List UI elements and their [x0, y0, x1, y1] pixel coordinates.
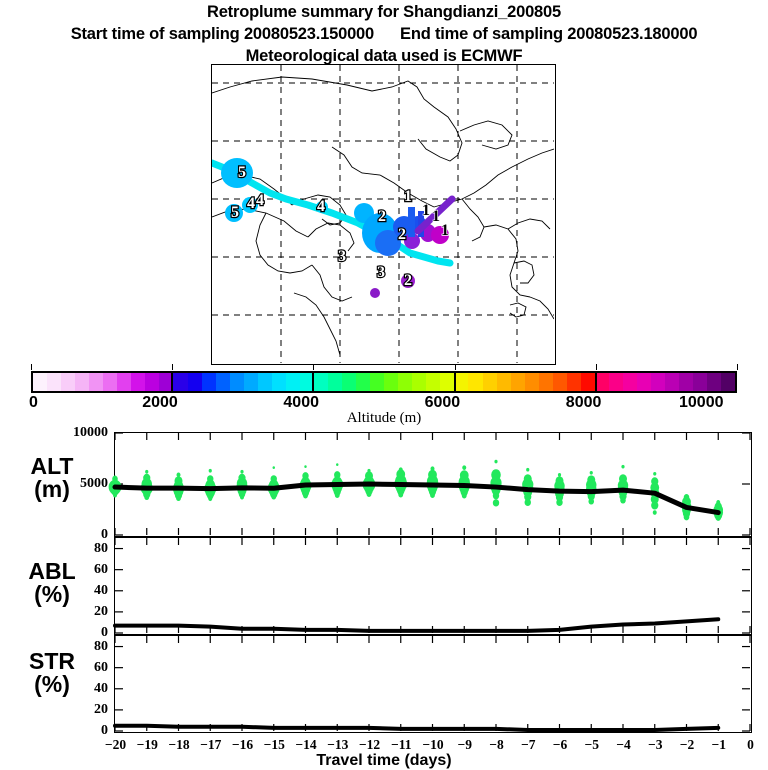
colorbar-separator: [454, 371, 456, 393]
svg-text:5: 5: [231, 204, 239, 221]
plume-blobs: [221, 158, 449, 298]
alt-scatter-point: [526, 468, 529, 472]
x-tick-label: −18: [162, 737, 196, 753]
colorbar-swatch: [693, 373, 707, 391]
x-tick-label: −19: [130, 737, 164, 753]
alt-scatter-point: [493, 492, 499, 499]
colorbar-swatch: [539, 373, 553, 391]
alt-scatter-point: [653, 510, 657, 515]
colorbar-swatch: [412, 373, 426, 391]
x-tick-label: −9: [448, 737, 482, 753]
abl-line: [115, 619, 718, 631]
colorbar-tick: [172, 364, 173, 370]
x-tick-label: −6: [543, 737, 577, 753]
colorbar-swatch: [609, 373, 623, 391]
colorbar-swatch: [356, 373, 370, 391]
str-plot: [115, 636, 750, 731]
alt-scatter-point: [684, 514, 690, 520]
colorbar-swatch: [131, 373, 145, 391]
str-panel[interactable]: [114, 635, 752, 733]
colorbar-swatch: [342, 373, 356, 391]
colorbar-swatch: [384, 373, 398, 391]
colorbar-tick: [737, 364, 738, 370]
y-tick-label: 80: [46, 639, 108, 655]
colorbar-swatch: [679, 373, 693, 391]
alt-mean-line: [115, 484, 718, 513]
colorbar-swatch: [188, 373, 202, 391]
alt-scatter-point: [653, 472, 656, 476]
x-tick-label: −13: [321, 737, 355, 753]
colorbar-swatch: [216, 373, 230, 391]
colorbar-swatch: [103, 373, 117, 391]
svg-text:3: 3: [338, 248, 346, 265]
page-title: Retroplume summary for Shangdianzi_20080…: [0, 3, 768, 22]
colorbar-caption: Altitude (m): [0, 410, 768, 427]
colorbar-swatch: [89, 373, 103, 391]
alt-scatter-point: [144, 495, 149, 501]
y-tick-label: 10000: [46, 425, 108, 441]
alt-scatter-point: [240, 470, 243, 474]
alt-scatter-point: [588, 498, 594, 504]
alt-scatter-point: [398, 492, 403, 498]
colorbar-swatch: [173, 373, 187, 391]
str-line: [115, 726, 718, 730]
colorbar-separator: [171, 371, 173, 393]
alt-plot: [115, 433, 750, 535]
colorbar-swatch: [426, 373, 440, 391]
svg-text:2: 2: [398, 226, 406, 243]
colorbar-swatch: [117, 373, 131, 391]
alt-scatter-point: [271, 494, 276, 500]
colorbar-swatch: [61, 373, 75, 391]
colorbar-swatch: [721, 373, 735, 391]
abl-plot: [115, 538, 750, 633]
y-tick-label: 80: [46, 541, 108, 557]
colorbar-swatch: [440, 373, 454, 391]
svg-text:2: 2: [404, 272, 412, 289]
svg-text:5: 5: [238, 164, 246, 181]
colorbar-swatch: [272, 373, 286, 391]
y-tick-label: 20: [46, 604, 108, 620]
alt-scatter-point: [462, 465, 466, 470]
x-tick-label: −17: [194, 737, 228, 753]
x-tick-label: −1: [702, 737, 736, 753]
alt-scatter-point: [176, 496, 181, 502]
colorbar-swatch: [47, 373, 61, 391]
svg-text:1: 1: [441, 222, 449, 239]
x-tick-label: −5: [575, 737, 609, 753]
alt-scatter-point: [273, 466, 275, 469]
colorbar-tick: [31, 364, 32, 370]
svg-text:1: 1: [404, 188, 412, 205]
alt-scatter-point: [494, 460, 497, 464]
colorbar-tick: [455, 364, 456, 370]
colorbar-tick: [313, 364, 314, 370]
x-tick-label: −12: [353, 737, 387, 753]
alt-scatter-point: [336, 463, 338, 466]
colorbar-separator: [312, 371, 314, 393]
colorbar-swatch: [230, 373, 244, 391]
x-tick-label: −20: [99, 737, 133, 753]
svg-text:1: 1: [432, 208, 440, 225]
alt-scatter-point: [525, 499, 531, 506]
colorbar-swatch: [623, 373, 637, 391]
y-tick-label: 60: [46, 660, 108, 676]
alt-scatter-point: [620, 497, 626, 503]
colorbar-swatch: [370, 373, 384, 391]
x-tick-label: −2: [670, 737, 704, 753]
colorbar-swatch: [33, 373, 47, 391]
colorbar-swatch: [665, 373, 679, 391]
x-tick-label: −8: [480, 737, 514, 753]
alt-scatter-point: [462, 493, 467, 499]
svg-text:2: 2: [378, 208, 386, 225]
x-tick-label: −16: [226, 737, 260, 753]
colorbar-swatch: [511, 373, 525, 391]
x-tick-label: −4: [607, 737, 641, 753]
alt-label-line1: ALT: [6, 455, 98, 478]
y-tick-label: 40: [46, 583, 108, 599]
alt-scatter-point: [558, 473, 561, 477]
retroplume-map[interactable]: 5 5 4 4 4 3 3 2 2 2 1 1 1 1: [211, 64, 556, 365]
map-graphic: 5 5 4 4 4 3 3 2 2 2 1 1 1 1: [212, 65, 554, 363]
x-tick-label: 0: [734, 737, 768, 753]
x-tick-label: −3: [638, 737, 672, 753]
colorbar-swatch: [145, 373, 159, 391]
end-time-label: End time of sampling 20080523.180000: [400, 25, 697, 43]
colorbar-swatch: [75, 373, 89, 391]
alt-scatter-point: [208, 496, 212, 501]
alt-scatter-point: [715, 514, 721, 520]
x-tick-label: −10: [416, 737, 450, 753]
svg-text:1: 1: [422, 202, 430, 219]
svg-text:4: 4: [256, 192, 264, 209]
alt-scatter-point: [621, 465, 624, 469]
sampling-times: Start time of sampling 20080523.150000En…: [0, 25, 768, 44]
alt-scatter-point: [113, 493, 117, 498]
y-tick-label: 20: [46, 702, 108, 718]
colorbar-swatch: [483, 373, 497, 391]
colorbar-swatch: [286, 373, 300, 391]
x-tick-label: −11: [384, 737, 418, 753]
svg-text:4: 4: [247, 195, 255, 212]
alt-scatter-point: [590, 471, 593, 475]
alt-scatter-point: [367, 491, 372, 497]
colorbar-swatch: [595, 373, 609, 391]
alt-scatter-point: [209, 469, 212, 473]
colorbar-separator: [595, 371, 597, 393]
alt-scatter-point: [556, 499, 562, 506]
colorbar-swatch: [637, 373, 651, 391]
colorbar-tick: [596, 364, 597, 370]
x-tick-label: −14: [289, 737, 323, 753]
start-time-label: Start time of sampling 20080523.150000: [71, 25, 374, 43]
alt-scatter-point: [240, 495, 244, 500]
colorbar-swatch: [314, 373, 328, 391]
colorbar-swatch: [244, 373, 258, 391]
svg-text:3: 3: [377, 264, 385, 281]
alt-scatter-point: [493, 499, 499, 506]
altitude-colorbar[interactable]: [31, 371, 737, 393]
colorbar-swatch: [567, 373, 581, 391]
alt-scatter-point: [651, 501, 658, 509]
alt-scatter-point: [335, 492, 340, 498]
alt-scatter-point: [304, 465, 306, 468]
colorbar-swatch: [581, 373, 595, 391]
alt-scatter-point: [145, 470, 148, 474]
colorbar-swatch: [497, 373, 511, 391]
colorbar-swatch: [468, 373, 482, 391]
x-tick-label: −15: [257, 737, 291, 753]
colorbar-swatch: [398, 373, 412, 391]
y-tick-label: 40: [46, 681, 108, 697]
x-tick-label: −7: [511, 737, 545, 753]
colorbar-swatch: [258, 373, 272, 391]
colorbar-swatch: [707, 373, 721, 391]
y-tick-label: 5000: [46, 476, 108, 492]
colorbar-swatch: [202, 373, 216, 391]
x-axis-title: Travel time (days): [0, 752, 768, 770]
colorbar-swatch: [553, 373, 567, 391]
abl-panel[interactable]: [114, 537, 752, 635]
colorbar-swatch: [525, 373, 539, 391]
colorbar-swatch: [328, 373, 342, 391]
alt-panel[interactable]: [114, 432, 752, 537]
alt-scatter-point: [303, 493, 308, 499]
y-tick-label: 60: [46, 562, 108, 578]
colorbar-swatch: [454, 373, 468, 391]
alt-scatter-point: [430, 492, 435, 498]
map-clip: 5 5 4 4 4 3 3 2 2 2 1 1 1 1: [212, 65, 555, 364]
colorbar-swatch: [651, 373, 665, 391]
svg-text:4: 4: [317, 198, 325, 215]
